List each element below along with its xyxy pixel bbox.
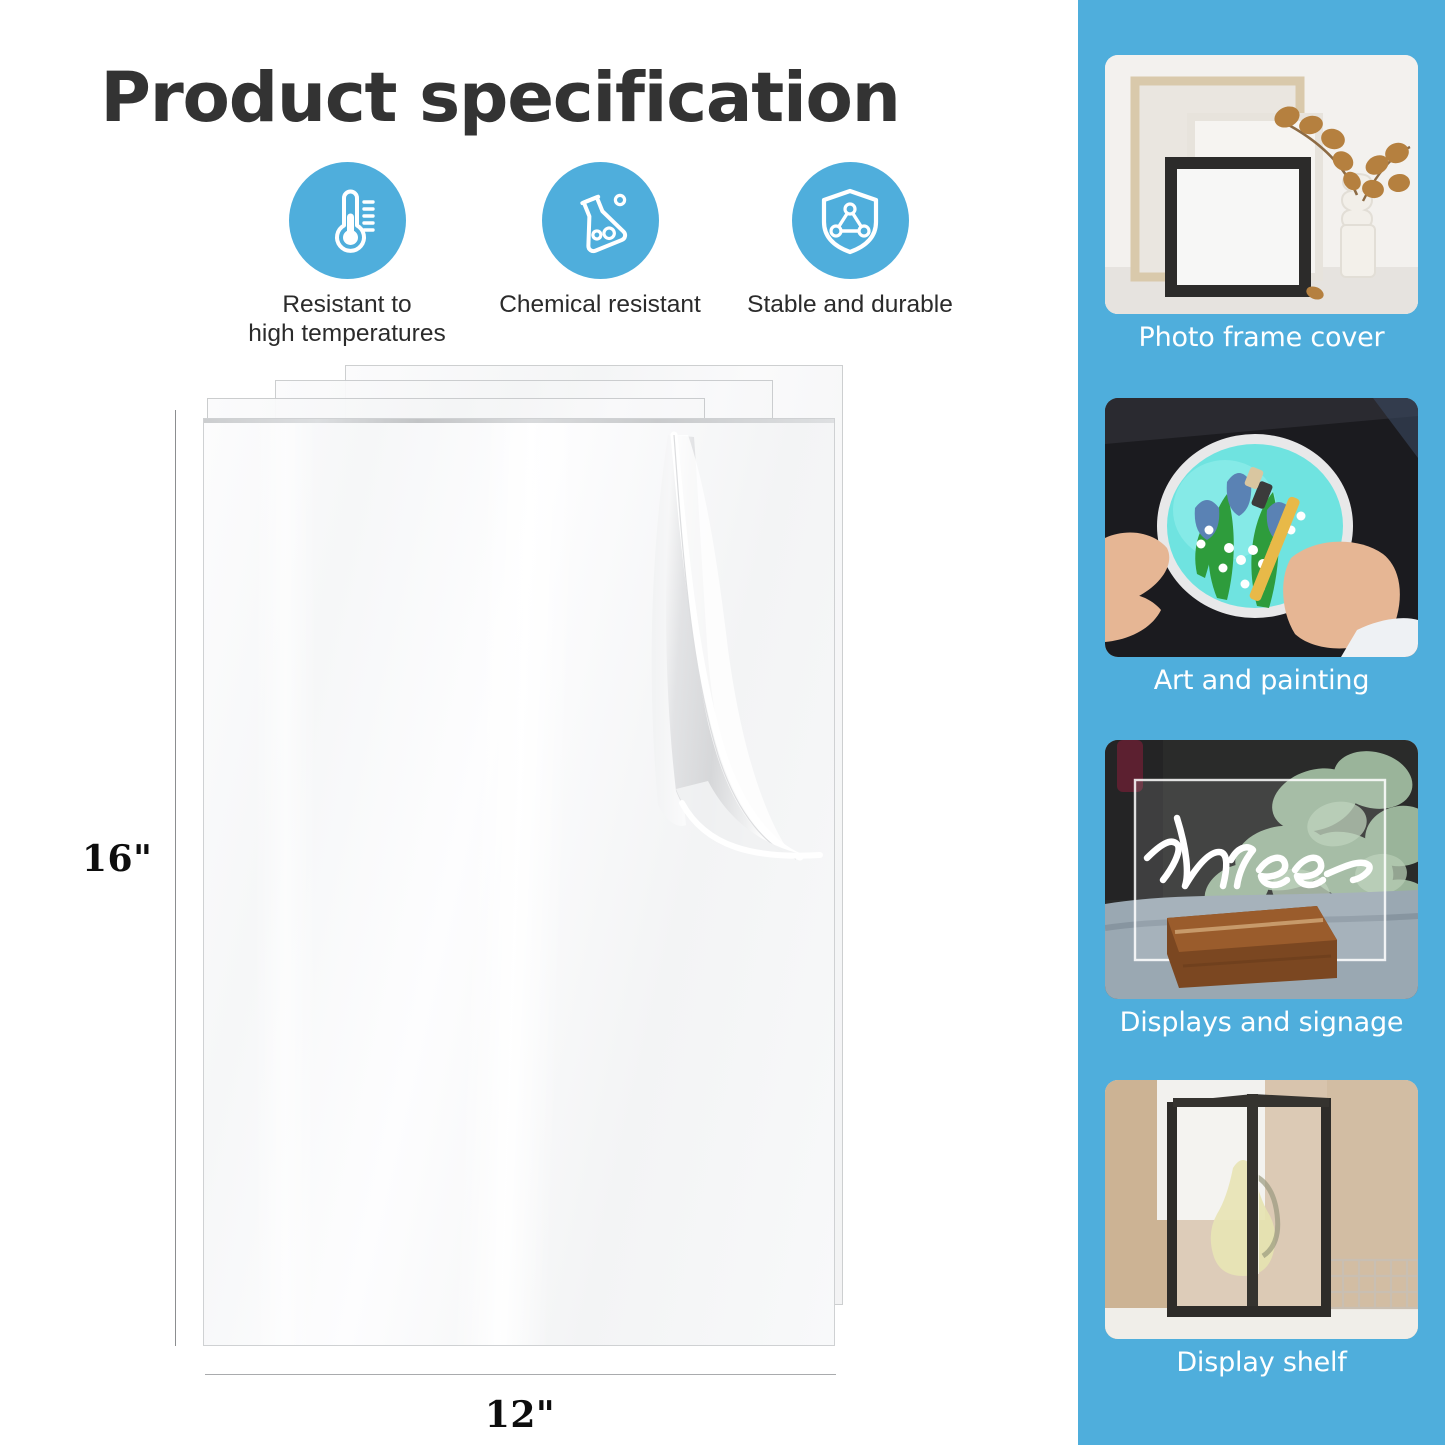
use-case-label: Art and painting bbox=[1105, 665, 1418, 696]
use-case-label: Displays and signage bbox=[1105, 1007, 1418, 1038]
photo-frames-image bbox=[1105, 55, 1418, 314]
use-case-photo-frame-cover: Photo frame cover bbox=[1105, 55, 1418, 353]
width-dimension-line bbox=[205, 1374, 836, 1375]
use-case-thumbnail bbox=[1105, 398, 1418, 657]
acrylic-signage-image bbox=[1105, 740, 1418, 999]
use-case-thumbnail bbox=[1105, 55, 1418, 314]
height-dimension-line bbox=[175, 410, 176, 1346]
use-case-thumbnail bbox=[1105, 740, 1418, 999]
acrylic-sheet-stack: 16" 12" bbox=[0, 0, 1078, 1445]
use-cases-sidebar: Photo frame cover bbox=[1078, 0, 1445, 1445]
use-case-label: Photo frame cover bbox=[1105, 322, 1418, 353]
height-dimension-label: 16" bbox=[82, 838, 152, 880]
width-dimension-label: 12" bbox=[0, 1394, 1040, 1436]
use-case-label: Display shelf bbox=[1105, 1347, 1418, 1378]
acrylic-sheet-front bbox=[203, 418, 835, 1346]
use-case-art-and-painting: Art and painting bbox=[1105, 398, 1418, 696]
use-case-displays-and-signage: Displays and signage bbox=[1105, 740, 1418, 1038]
use-case-thumbnail bbox=[1105, 1080, 1418, 1339]
product-specification-infographic: Product specification bbox=[0, 0, 1445, 1445]
main-panel: Product specification bbox=[0, 0, 1078, 1445]
sheet-sheen-left bbox=[254, 418, 317, 1346]
protective-film-peel bbox=[622, 421, 835, 861]
use-case-display-shelf: Display shelf bbox=[1105, 1080, 1418, 1378]
display-shelf-image bbox=[1105, 1080, 1418, 1339]
sheet-sheen-center bbox=[451, 418, 580, 1346]
art-painting-image bbox=[1105, 398, 1418, 657]
